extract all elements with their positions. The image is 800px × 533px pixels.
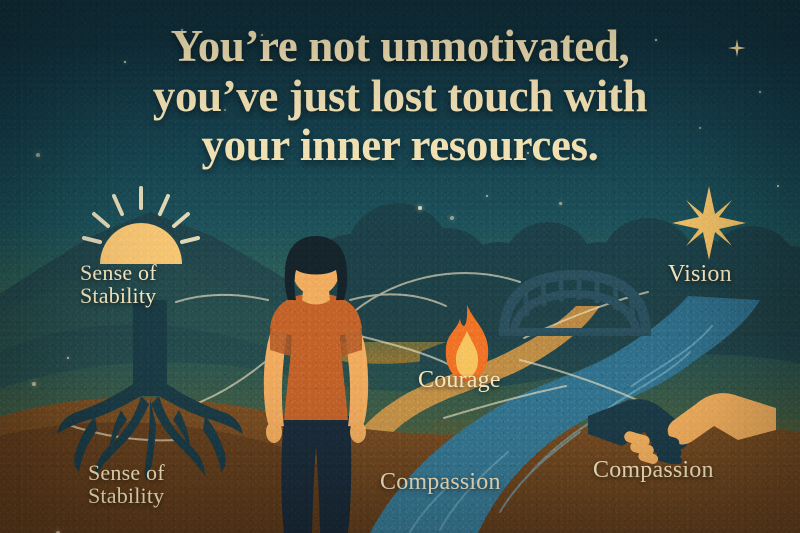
- label-sense-of-stability-sun: Sense of Stability: [80, 262, 157, 307]
- label-sense-of-stability-roots: Sense of Stability: [88, 462, 165, 507]
- label-courage: Courage: [418, 368, 501, 393]
- label-vision: Vision: [668, 262, 732, 287]
- label-compassion-right: Compassion: [593, 458, 714, 483]
- resource-labels: Sense of StabilitySense of StabilityCour…: [0, 0, 800, 533]
- poster-scene: You’re not unmotivated, you’ve just lost…: [0, 0, 800, 533]
- label-compassion-left: Compassion: [380, 470, 501, 495]
